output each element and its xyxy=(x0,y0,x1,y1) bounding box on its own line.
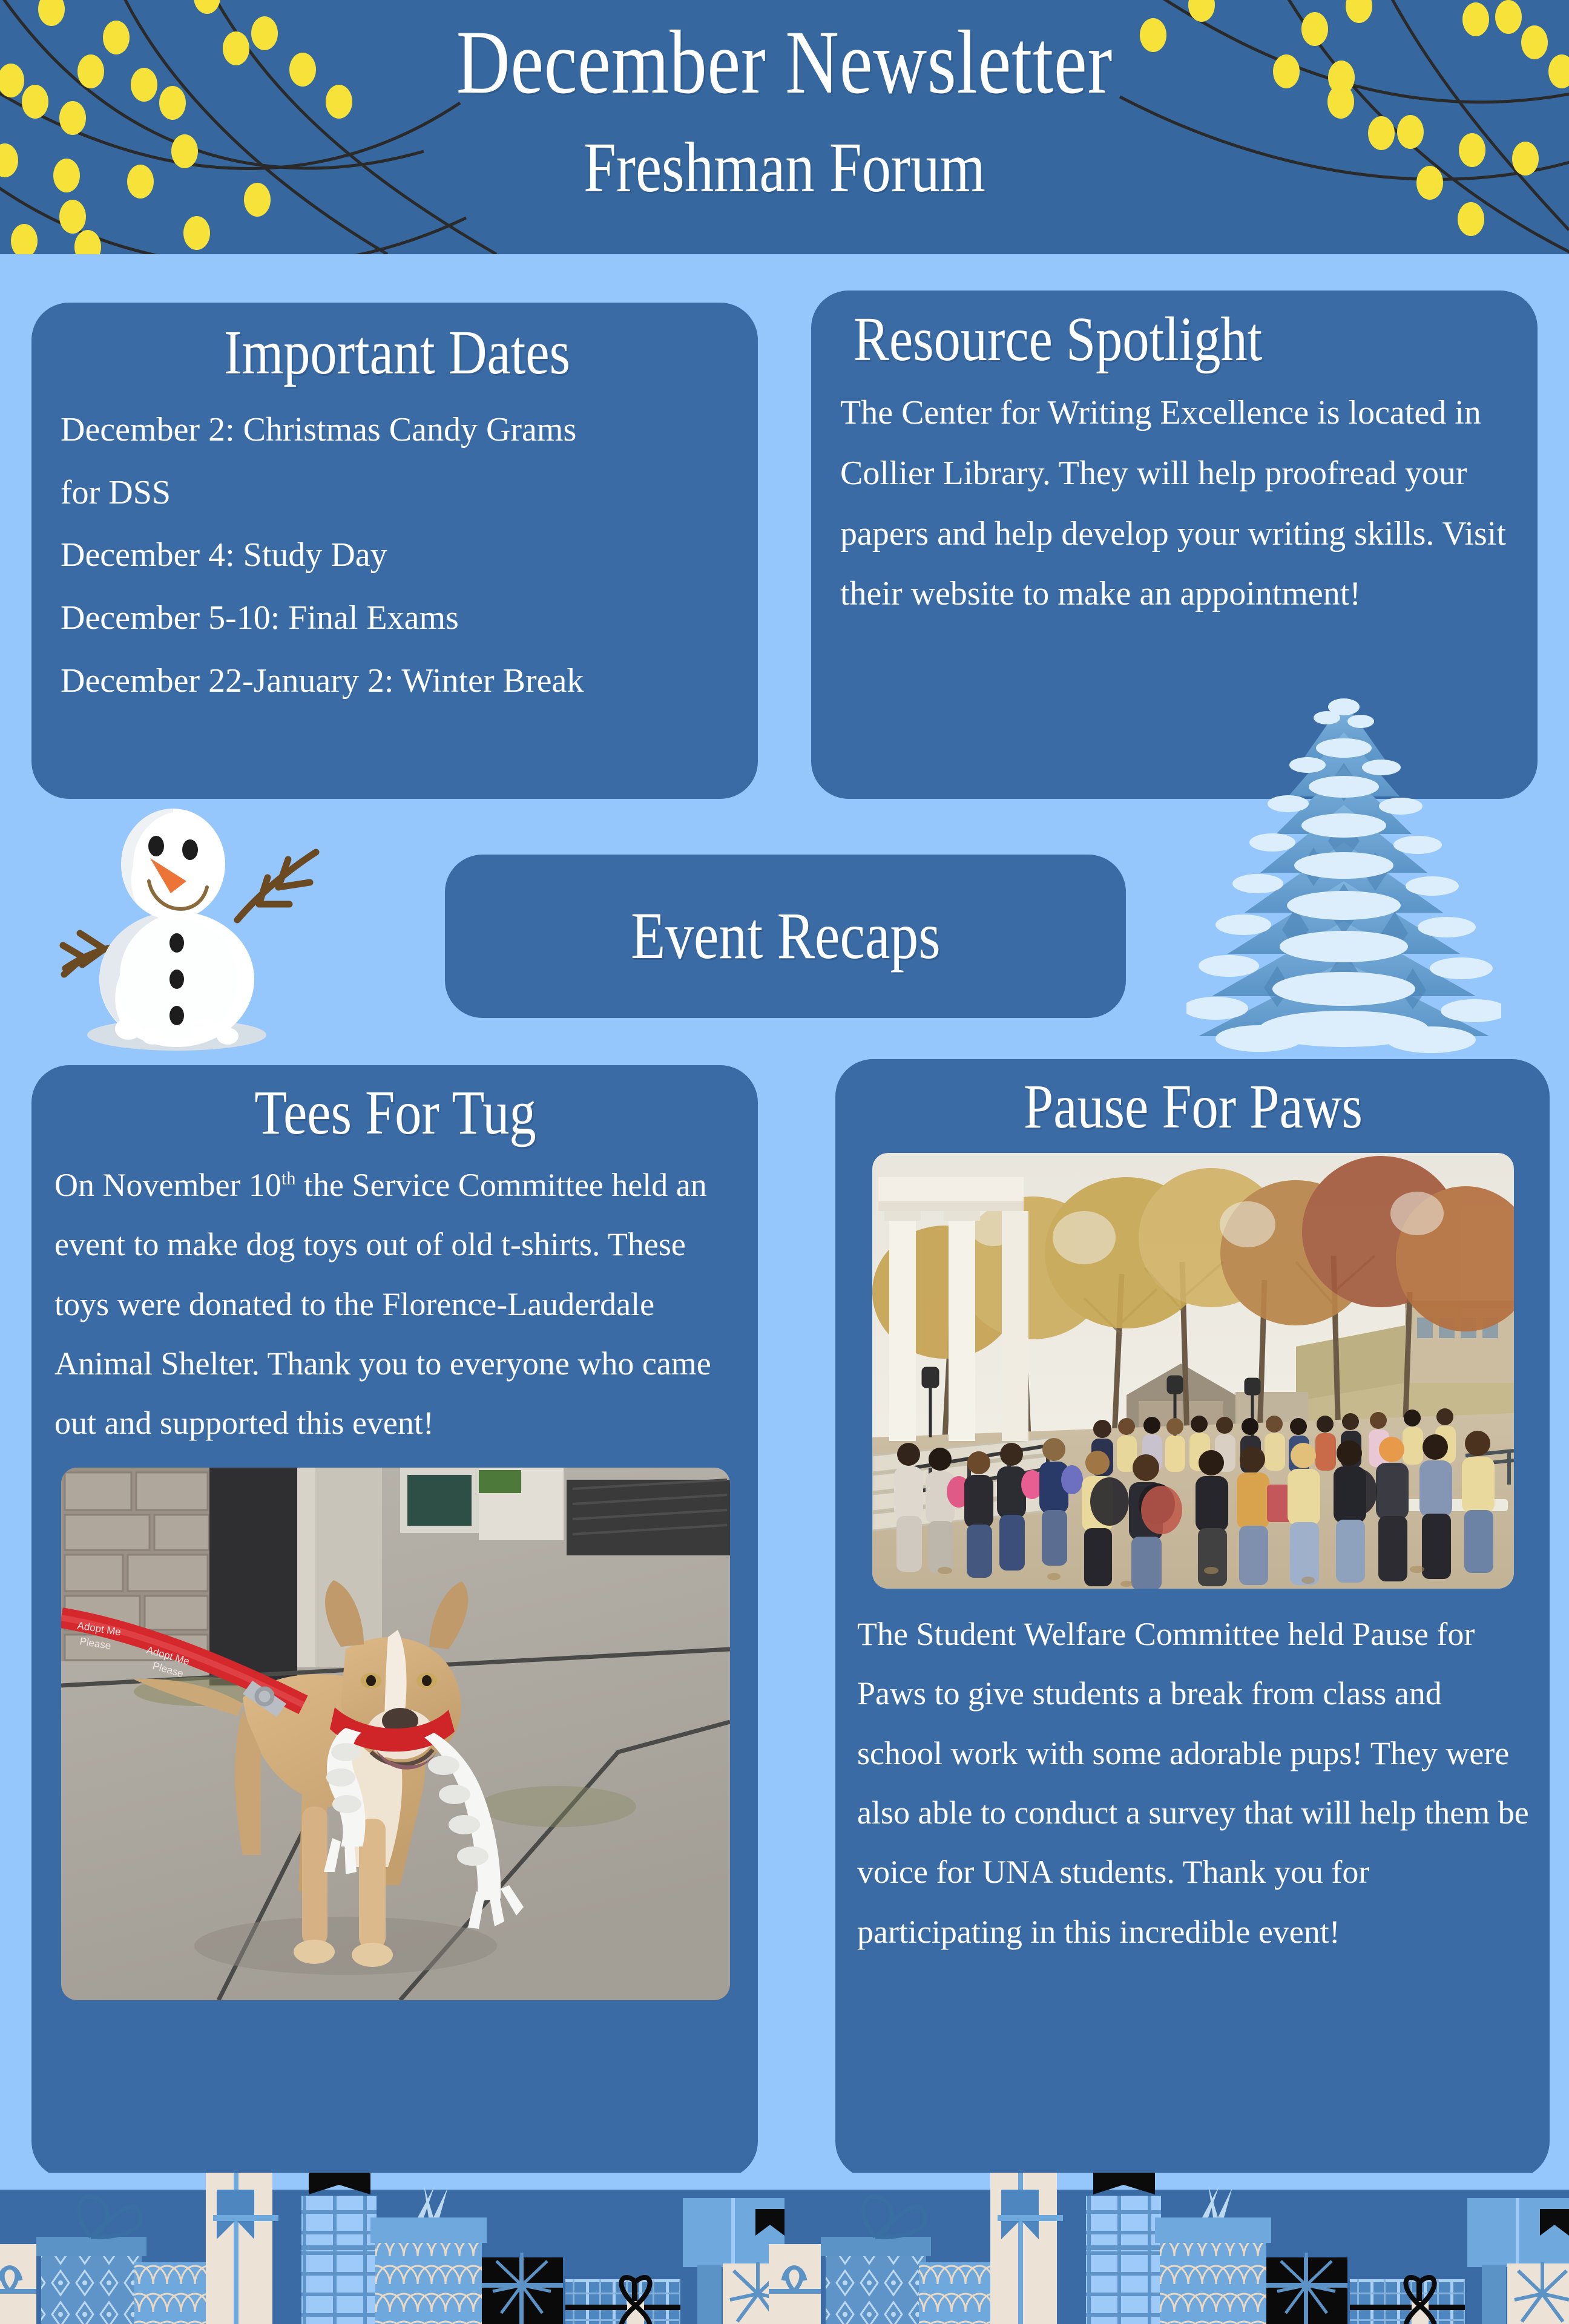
christmas-tree-icon xyxy=(1186,690,1501,1065)
resource-spotlight-title: Resource Spotlight xyxy=(854,306,1411,372)
dog-with-tug-toy-photo: Adopt Me Please Adopt Me Please xyxy=(61,1468,730,2000)
gift-boxes-border-icon xyxy=(0,2173,1569,2324)
resource-spotlight-body: The Center for Writing Excellence is loc… xyxy=(840,383,1510,625)
pause-for-paws-body: The Student Welfare Committee held Pause… xyxy=(857,1604,1529,1961)
newsletter-page: December Newsletter Freshman Forum Impor… xyxy=(0,0,1569,2324)
event-recaps-banner: Event Recaps xyxy=(445,855,1126,1018)
pause-for-paws-title: Pause For Paws xyxy=(907,1074,1479,1140)
event-recaps-title: Event Recaps xyxy=(631,901,940,971)
page-title: December Newsletter xyxy=(141,17,1427,108)
list-item: December 4: Study Day xyxy=(61,524,734,587)
body-rest: the Service Committee held an event to m… xyxy=(54,1167,711,1441)
tees-for-tug-body: On November 10th the Service Committee h… xyxy=(54,1155,736,1452)
list-item: December 5-10: Final Exams xyxy=(61,587,734,650)
tees-for-tug-title: Tees For Tug xyxy=(105,1080,685,1146)
important-dates-list: December 2: Christmas Candy Grams for DS… xyxy=(61,399,734,712)
snowman-icon xyxy=(36,769,363,1053)
list-item: December 22-January 2: Winter Break xyxy=(61,650,734,713)
campus-event-photo xyxy=(872,1153,1514,1589)
list-item: December 2: Christmas Candy Grams xyxy=(61,399,734,462)
tees-for-tug-card: Tees For Tug On November 10th the Servic… xyxy=(31,1065,758,2179)
important-dates-title: Important Dates xyxy=(111,320,683,386)
list-item: for DSS xyxy=(61,462,734,525)
ordinal-suffix: th xyxy=(281,1168,296,1189)
newsletter-header: December Newsletter Freshman Forum xyxy=(0,0,1569,254)
page-subtitle: Freshman Forum xyxy=(141,132,1427,203)
pause-for-paws-card: Pause For Paws xyxy=(835,1059,1550,2179)
important-dates-card: Important Dates December 2: Christmas Ca… xyxy=(31,303,758,799)
body-lead: On November 10 xyxy=(54,1167,281,1203)
